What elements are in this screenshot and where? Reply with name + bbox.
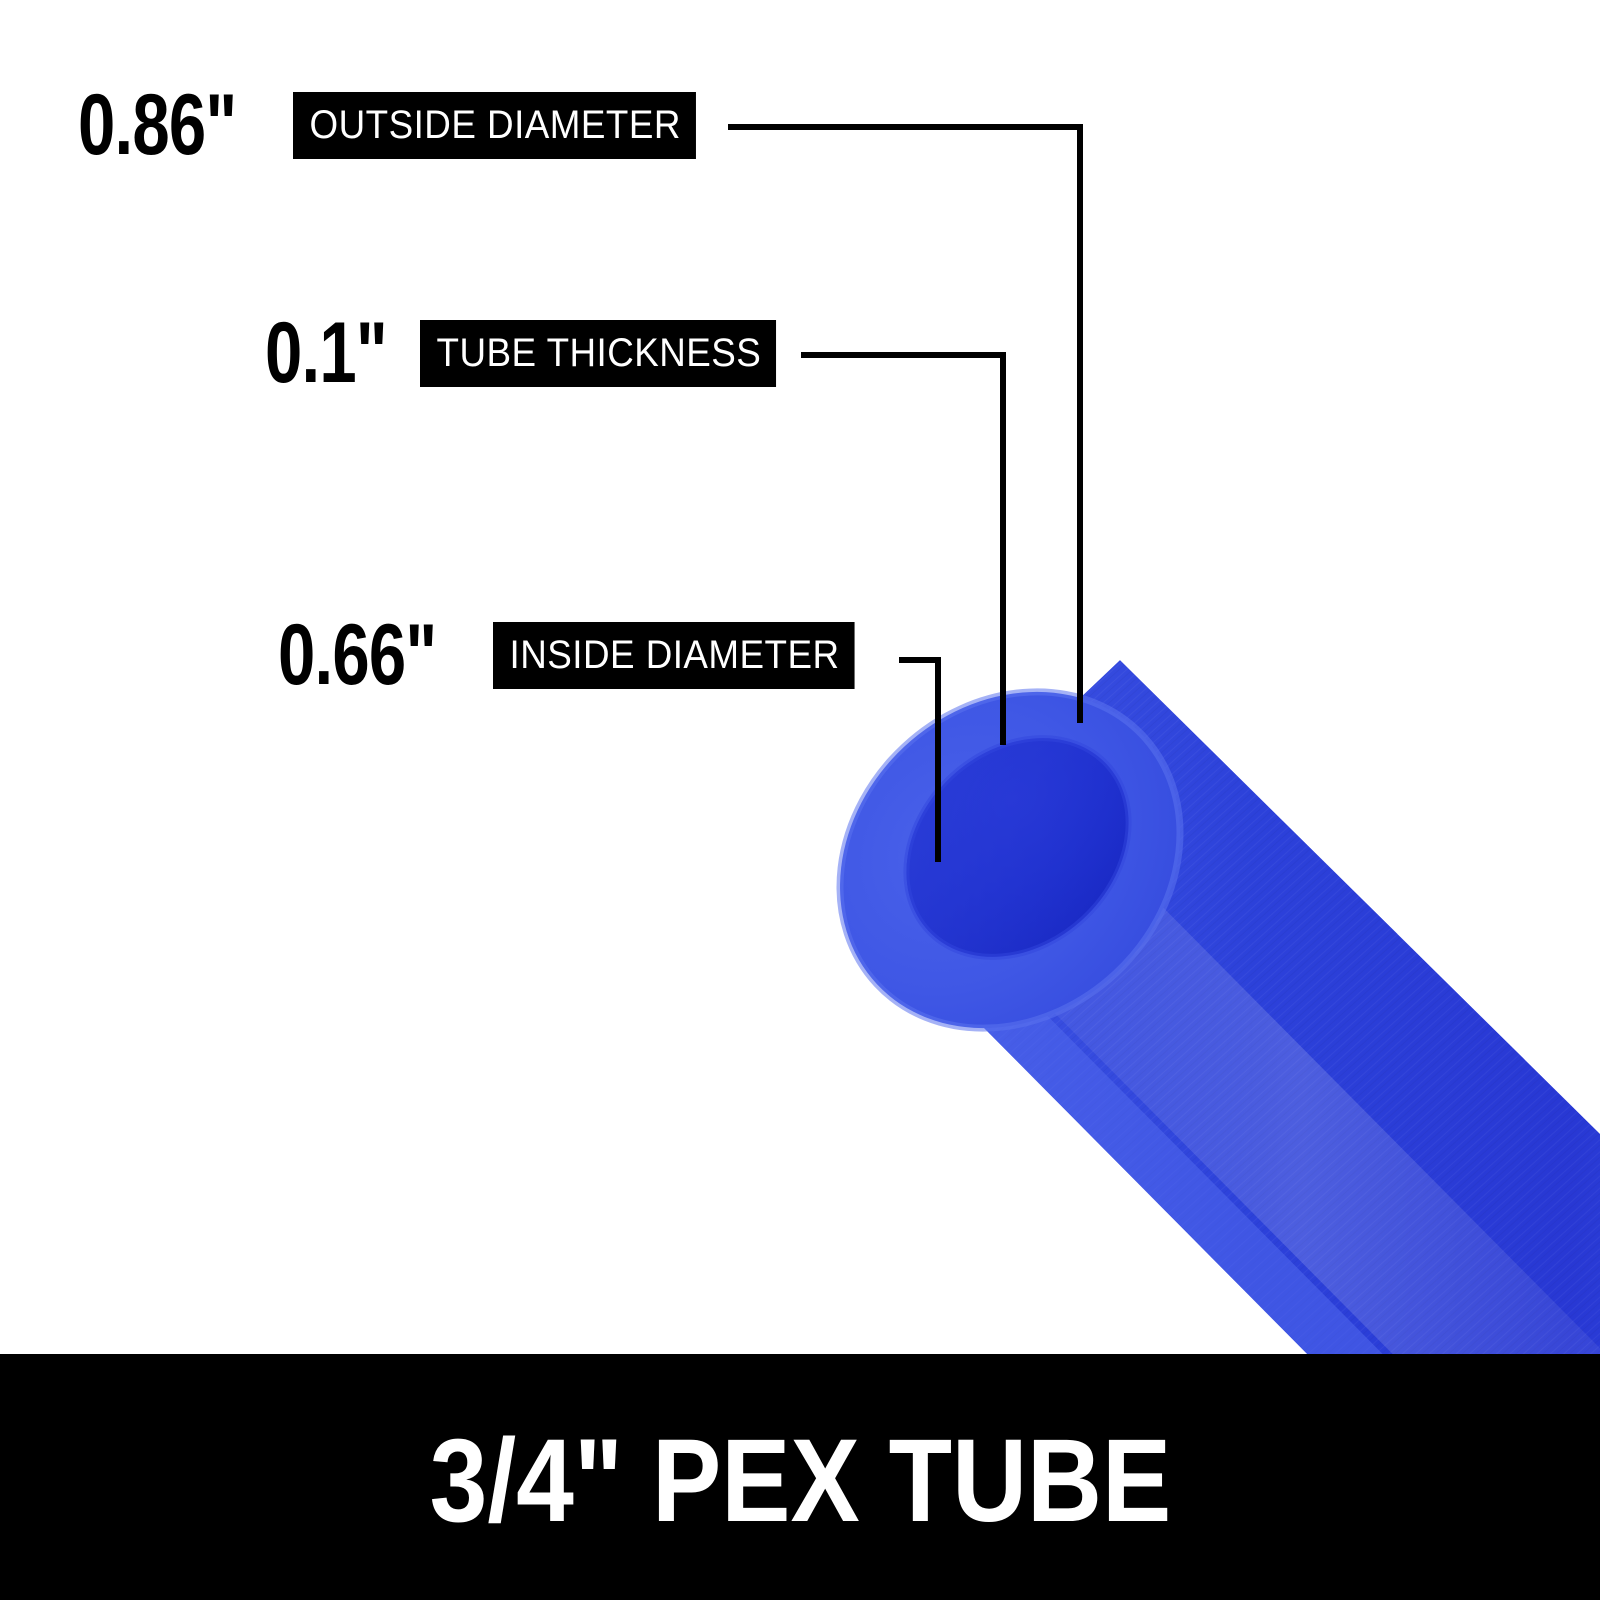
infographic-canvas: 0.86" OUTSIDE DIAMETER 0.1" TUBE THICKNE… [0,0,1600,1600]
callout-outside-diameter-label: OUTSIDE DIAMETER [293,92,696,159]
callout-inside-diameter-label: INSIDE DIAMETER [493,622,854,689]
callout-tube-thickness-value: 0.1" [265,318,386,388]
callout-tube-thickness-label: TUBE THICKNESS [420,320,776,387]
product-title: 3/4" PEX TUBE [429,1422,1171,1540]
callout-tube-thickness: 0.1" TUBE THICKNESS [265,318,807,388]
bottom-banner: 3/4" PEX TUBE [0,1354,1600,1600]
callout-inside-diameter-value: 0.66" [278,620,446,690]
callout-inside-diameter: 0.66" INSIDE DIAMETER [278,620,886,690]
callout-outside-diameter: 0.86" OUTSIDE DIAMETER [78,90,731,160]
callout-outside-diameter-value: 0.86" [78,90,246,160]
